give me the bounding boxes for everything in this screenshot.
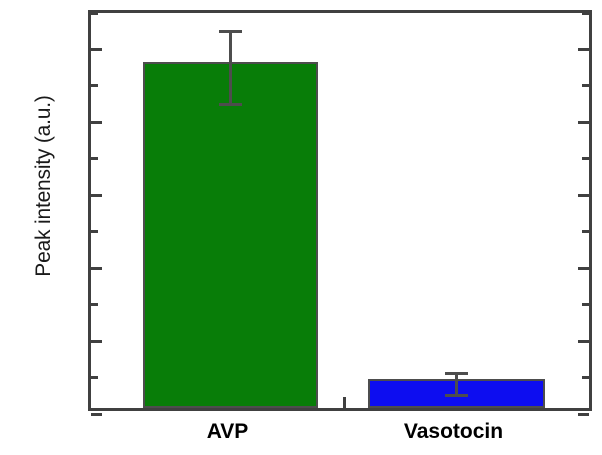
error-cap-upper xyxy=(445,372,468,375)
y-axis-minor-tick xyxy=(91,303,98,306)
y-axis-major-tick-right xyxy=(578,340,589,343)
y-axis-minor-tick xyxy=(91,12,98,15)
y-axis-minor-tick-right xyxy=(582,157,589,160)
y-axis-major-tick xyxy=(91,121,102,124)
y-axis-major-tick-right xyxy=(578,413,589,416)
bar-chart-figure: Peak intensity (a.u.) 01x1032x1033x1034x… xyxy=(0,0,602,455)
y-axis-minor-tick-right xyxy=(582,376,589,379)
y-axis-minor-tick-right xyxy=(582,12,589,15)
y-axis-major-tick xyxy=(91,267,102,270)
bar-avp xyxy=(143,62,318,408)
error-cap-upper xyxy=(219,30,242,33)
y-axis-major-tick-right xyxy=(578,267,589,270)
error-bar-avp xyxy=(229,31,232,104)
y-axis-major-tick xyxy=(91,413,102,416)
error-cap-lower xyxy=(219,103,242,106)
y-axis-major-tick xyxy=(91,340,102,343)
y-axis-major-tick xyxy=(91,194,102,197)
error-bar-vasotocin xyxy=(455,374,458,396)
y-axis-minor-tick-right xyxy=(582,84,589,87)
plot-area xyxy=(88,10,592,411)
y-axis-minor-tick xyxy=(91,157,98,160)
y-axis-major-tick-right xyxy=(578,48,589,51)
error-cap-lower xyxy=(445,394,468,397)
x-axis-tick xyxy=(343,397,346,408)
y-axis-minor-tick-right xyxy=(582,303,589,306)
y-axis-minor-tick xyxy=(91,376,98,379)
y-axis-major-tick-right xyxy=(578,194,589,197)
x-category-label-vasotocin: Vasotocin xyxy=(404,420,503,444)
y-axis-title: Peak intensity (a.u.) xyxy=(32,46,56,326)
y-axis-minor-tick-right xyxy=(582,230,589,233)
y-axis-major-tick xyxy=(91,48,102,51)
y-axis-minor-tick xyxy=(91,84,98,87)
x-category-label-avp: AVP xyxy=(207,420,249,444)
y-axis-minor-tick xyxy=(91,230,98,233)
y-axis-major-tick-right xyxy=(578,121,589,124)
